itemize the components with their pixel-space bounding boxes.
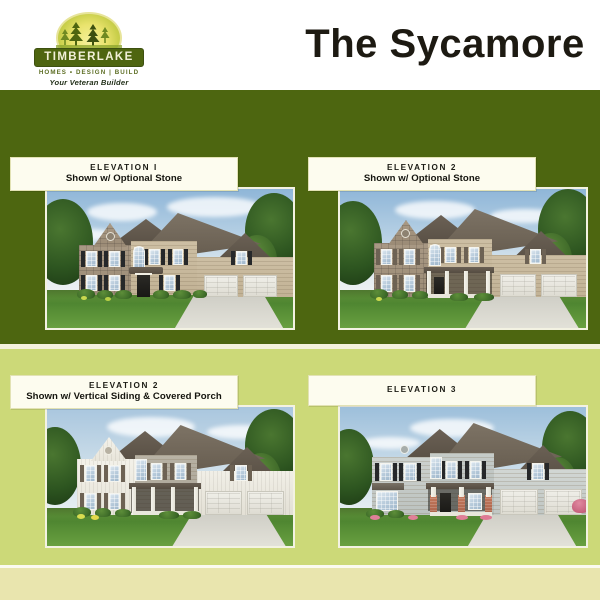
elevation-2-subheading: Shown w/ Optional Stone (315, 173, 529, 185)
elevation-1-subheading: Shown w/ Optional Stone (17, 173, 231, 185)
elevation-1-label: ELEVATION I Shown w/ Optional Stone (10, 157, 238, 191)
elevation-2-label: ELEVATION 2 Shown w/ Optional Stone (308, 157, 536, 191)
page-title: The Sycamore (300, 22, 590, 67)
timberlake-logo[interactable]: TIMBERLAKE HOMES • DESIGN | BUILD Your V… (30, 12, 148, 80)
elevation-1-heading: ELEVATION I (17, 162, 231, 173)
footer-band (0, 568, 600, 600)
elevation-2-heading: ELEVATION 2 (315, 162, 529, 173)
trees-icon (46, 18, 132, 52)
elevation-4-heading: ELEVATION 3 (315, 380, 529, 400)
elevation-3-heading: ELEVATION 2 (17, 380, 231, 391)
elevation-1-image[interactable] (45, 187, 295, 330)
elevation-3-subheading: Shown w/ Vertical Siding & Covered Porch (17, 391, 231, 403)
elevation-2-image[interactable] (338, 187, 588, 330)
logo-tagline: Your Veteran Builder (30, 78, 148, 87)
logo-wordmark: TIMBERLAKE (34, 48, 144, 67)
elevation-3-image[interactable] (45, 405, 295, 548)
elevation-3-label: ELEVATION 2 Shown w/ Vertical Siding & C… (10, 375, 238, 409)
logo-emblem-icon (46, 12, 132, 52)
brochure-page: TIMBERLAKE HOMES • DESIGN | BUILD Your V… (0, 0, 600, 600)
logo-subtitle: HOMES • DESIGN | BUILD (30, 69, 148, 76)
elevation-4-image[interactable] (338, 405, 588, 548)
elevation-4-label: ELEVATION 3 (308, 375, 536, 406)
page-header: TIMBERLAKE HOMES • DESIGN | BUILD Your V… (0, 0, 600, 90)
